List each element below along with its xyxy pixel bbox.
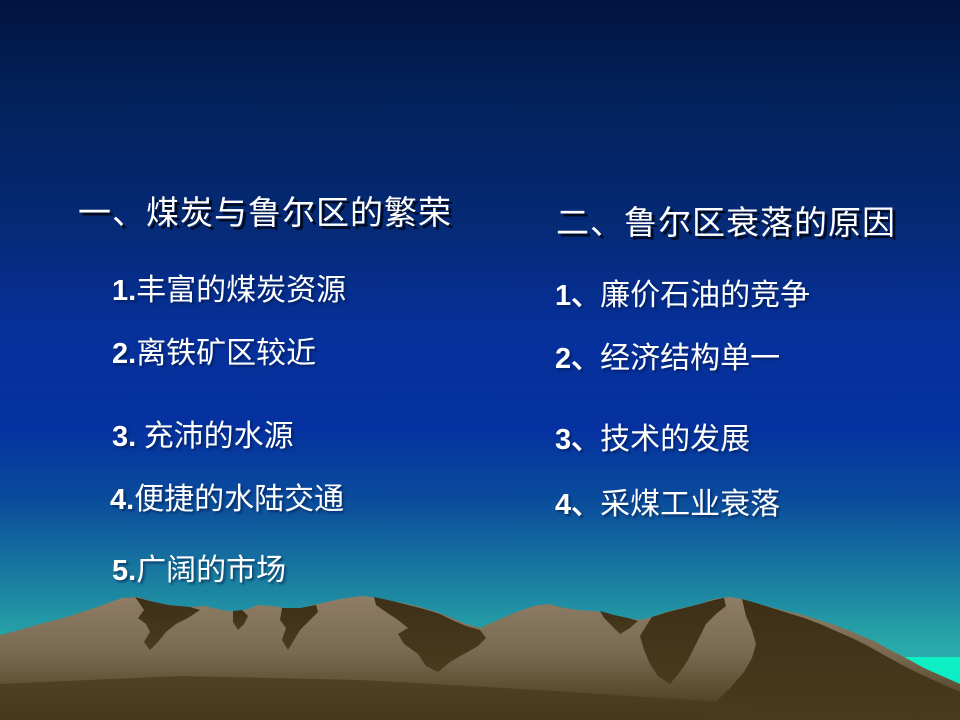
list-item-text: 丰富的煤炭资源 (136, 274, 346, 307)
left-list-item: 4.便捷的水陆交通 (110, 474, 344, 518)
mountain-range-graphic (0, 580, 960, 720)
right-list-item: 3、技术的发展 (555, 414, 750, 458)
list-item-number: 4. (110, 484, 134, 516)
list-item-number: 2. (112, 338, 136, 370)
list-item-number: 1. (112, 275, 136, 307)
list-item-text: 廉价石油的竞争 (600, 279, 810, 312)
list-item-number: 5. (112, 555, 136, 587)
list-item-text: 广阔的市场 (136, 554, 286, 587)
right-list-item: 4、采煤工业衰落 (555, 479, 780, 523)
presentation-slide: 一、煤炭与鲁尔区的繁荣 1.丰富的煤炭资源 2.离铁矿区较近 3. 充沛的水源 … (0, 0, 960, 720)
left-list-item: 3. 充沛的水源 (112, 411, 294, 455)
left-section-title: 一、煤炭与鲁尔区的繁荣 (78, 186, 452, 234)
list-item-text: 技术的发展 (600, 423, 750, 456)
list-item-text: 充沛的水源 (136, 420, 294, 453)
list-item-number: 4、 (555, 489, 600, 521)
list-item-text: 采煤工业衰落 (600, 488, 780, 521)
list-item-number: 3. (112, 421, 136, 453)
left-list-item: 2.离铁矿区较近 (112, 328, 316, 372)
list-item-number: 3、 (555, 424, 600, 456)
list-item-text: 离铁矿区较近 (136, 337, 316, 370)
left-list-item: 5.广阔的市场 (112, 545, 286, 589)
right-list-item: 2、经济结构单一 (555, 333, 780, 377)
right-list-item: 1、廉价石油的竞争 (555, 270, 810, 314)
list-item-number: 2、 (555, 343, 600, 375)
right-section-title: 二、鲁尔区衰落的原因 (556, 196, 896, 244)
left-list-item: 1.丰富的煤炭资源 (112, 265, 346, 309)
list-item-number: 1、 (555, 280, 600, 312)
list-item-text: 便捷的水陆交通 (134, 483, 344, 516)
list-item-text: 经济结构单一 (600, 342, 780, 375)
